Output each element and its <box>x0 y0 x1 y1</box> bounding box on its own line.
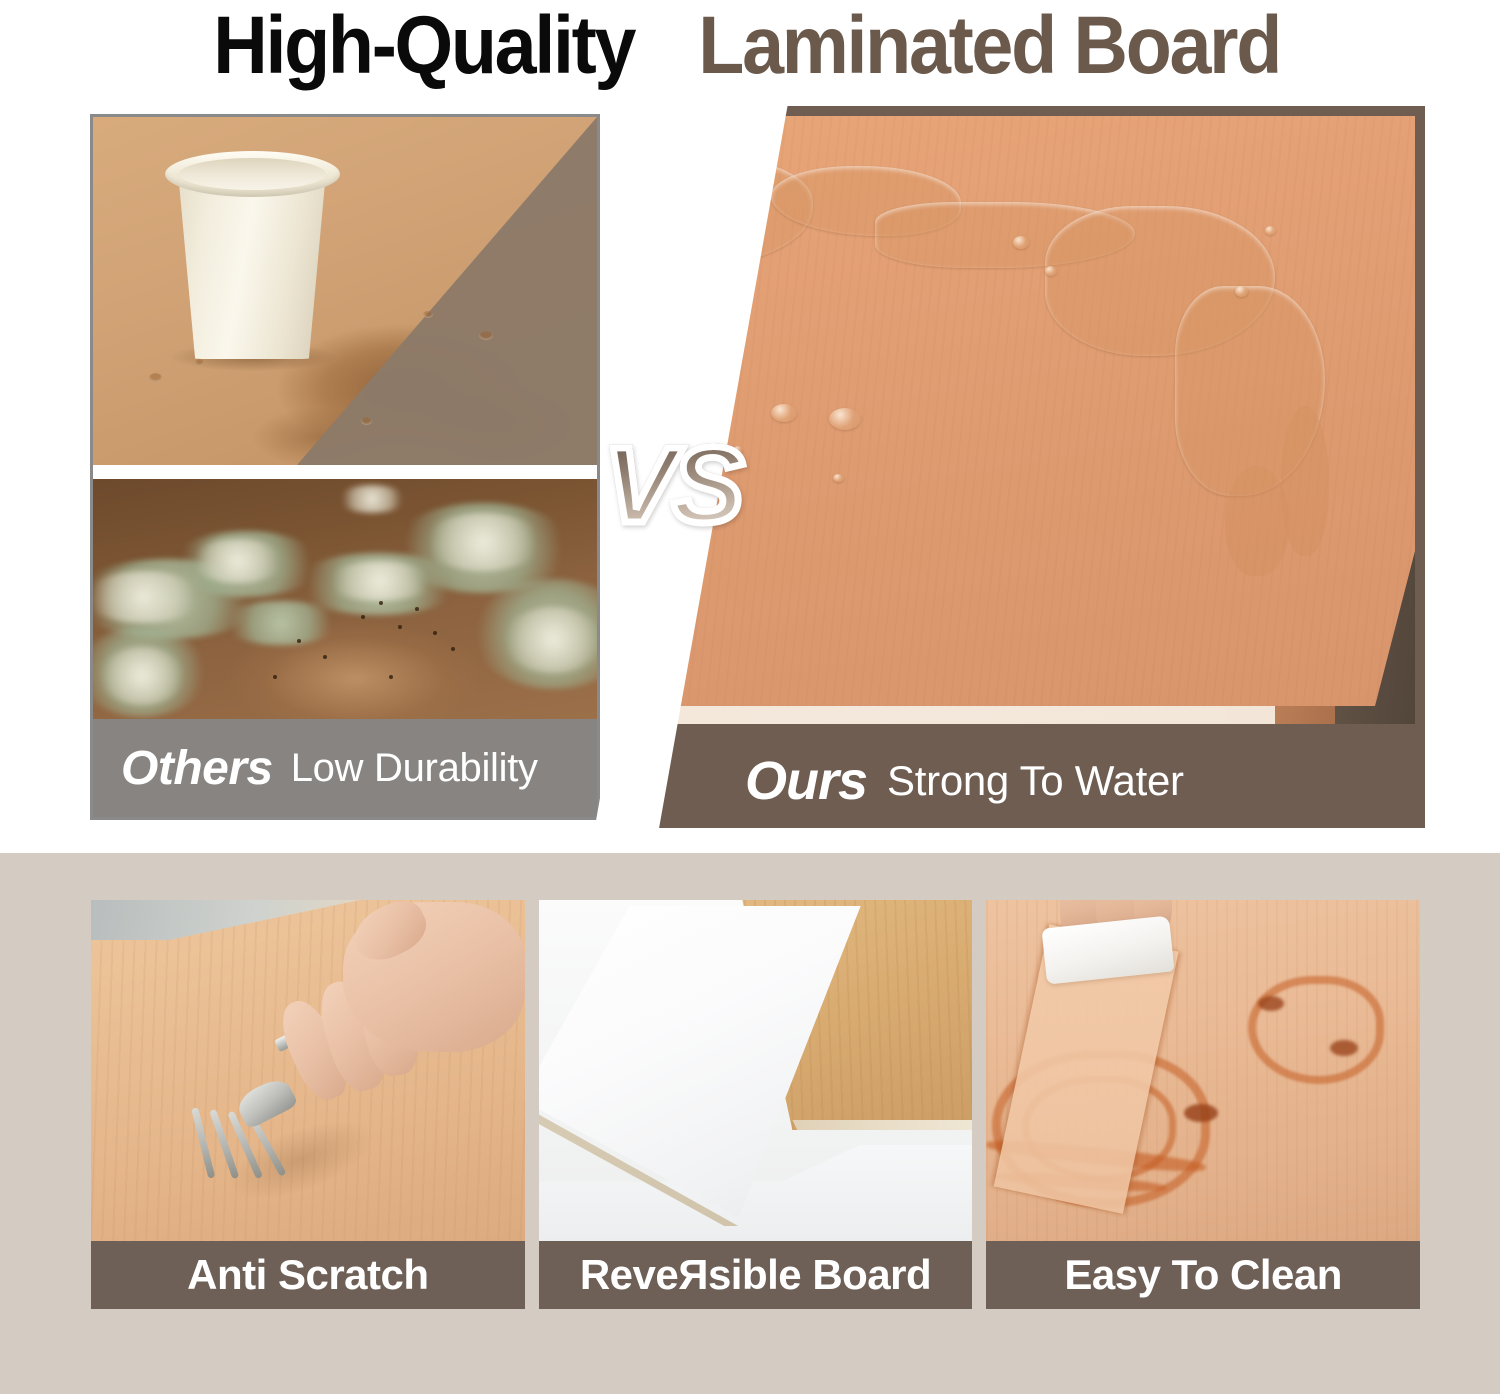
page-title-part-2: Laminated Board <box>698 5 1280 87</box>
feature-label-text: ReveЯsible Board <box>580 1251 931 1299</box>
mold-speck <box>389 675 393 679</box>
coffee-spill-photo <box>93 117 597 465</box>
mold-speck <box>451 647 455 651</box>
cup-body <box>173 169 331 359</box>
comparison-section: Others Low Durability <box>0 92 1500 842</box>
sauce-blob <box>1184 1104 1218 1122</box>
feature-label-bar: Easy To Clean <box>986 1241 1420 1309</box>
features-section: Anti Scratch ReveЯsible Board <box>0 853 1500 1394</box>
mold-speck <box>323 655 327 659</box>
spill-droplet <box>423 311 433 318</box>
spill-droplet <box>149 373 162 382</box>
mold-speck <box>297 639 301 643</box>
page-title-part-1: High-Quality <box>213 5 634 87</box>
water-drip <box>1225 466 1289 576</box>
water-bead <box>829 408 861 430</box>
water-bead <box>1235 286 1248 297</box>
sauce-smear <box>1248 976 1384 1084</box>
mold-patch <box>189 539 285 583</box>
paper-cup <box>165 147 340 359</box>
mold-patch <box>99 647 185 705</box>
feature-label-text: Anti Scratch <box>187 1251 428 1299</box>
mold-speck <box>273 675 277 679</box>
ours-brand-label: Ours <box>745 750 867 812</box>
feature-card-row: Anti Scratch ReveЯsible Board <box>91 900 1420 1309</box>
water-drip <box>1281 406 1329 556</box>
mold-patch <box>503 607 597 673</box>
spill-droplet <box>195 359 204 366</box>
spill-droplet <box>479 331 493 340</box>
feature-label-bar: ReveЯsible Board <box>539 1241 973 1309</box>
others-tagline-label: Low Durability <box>291 746 538 791</box>
mold-speck <box>415 607 419 611</box>
cup-opening <box>179 158 326 190</box>
photo-separator <box>93 465 597 479</box>
mold-speck <box>433 631 437 635</box>
mold-patch <box>423 513 543 571</box>
brown-diagonal-overlay <box>297 117 597 465</box>
water-bead <box>833 474 844 482</box>
others-brand-label: Others <box>121 741 273 796</box>
feature-card-anti-scratch: Anti Scratch <box>91 900 525 1309</box>
mold-speck <box>379 601 383 605</box>
feature-label-text: Easy To Clean <box>1064 1251 1342 1299</box>
spill-droplet <box>361 417 372 425</box>
feature-card-reversible-board: ReveЯsible Board <box>539 900 973 1309</box>
reversible-board-photo <box>539 900 973 1241</box>
anti-scratch-photo <box>91 900 525 1241</box>
feature-label-bar: Anti Scratch <box>91 1241 525 1309</box>
others-panel-inner: Others Low Durability <box>93 117 597 817</box>
mold-speck <box>361 615 365 619</box>
mold-speck <box>398 625 402 629</box>
water-bead <box>1045 266 1057 276</box>
water-bead <box>771 404 797 422</box>
easy-to-clean-photo <box>986 900 1420 1241</box>
mold-patch <box>221 601 341 645</box>
ours-caption-bar: Ours Strong To Water <box>575 734 1425 828</box>
vs-badge: VS <box>604 422 740 547</box>
feature-card-easy-to-clean: Easy To Clean <box>986 900 1420 1309</box>
water-bead <box>1013 236 1029 249</box>
water-bead <box>1265 226 1276 235</box>
page-title: High-Quality Laminated Board <box>0 0 1500 92</box>
others-caption-bar: Others Low Durability <box>93 719 597 817</box>
mold-patch <box>337 485 407 513</box>
ours-tagline-label: Strong To Water <box>887 757 1184 805</box>
fork-head <box>233 1074 298 1130</box>
mold-growth-photo <box>93 479 597 723</box>
others-panel: Others Low Durability <box>90 114 600 820</box>
